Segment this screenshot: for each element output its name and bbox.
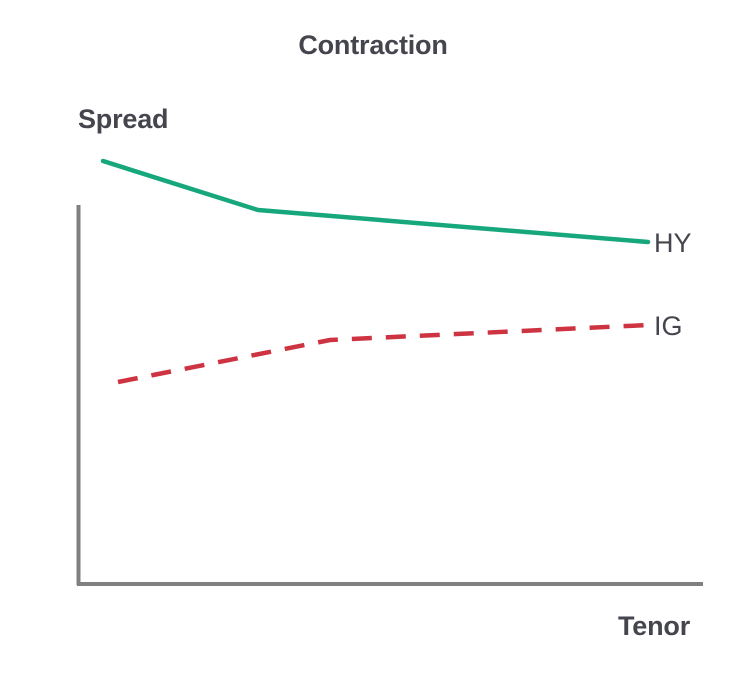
plot-area <box>0 0 746 673</box>
series-label-hy: HY <box>654 228 692 259</box>
series-line-ig <box>118 325 648 382</box>
series-label-ig: IG <box>654 311 683 342</box>
series-line-hy <box>103 161 648 242</box>
chart-figure: Contraction Spread Tenor HY IG <box>0 0 746 673</box>
